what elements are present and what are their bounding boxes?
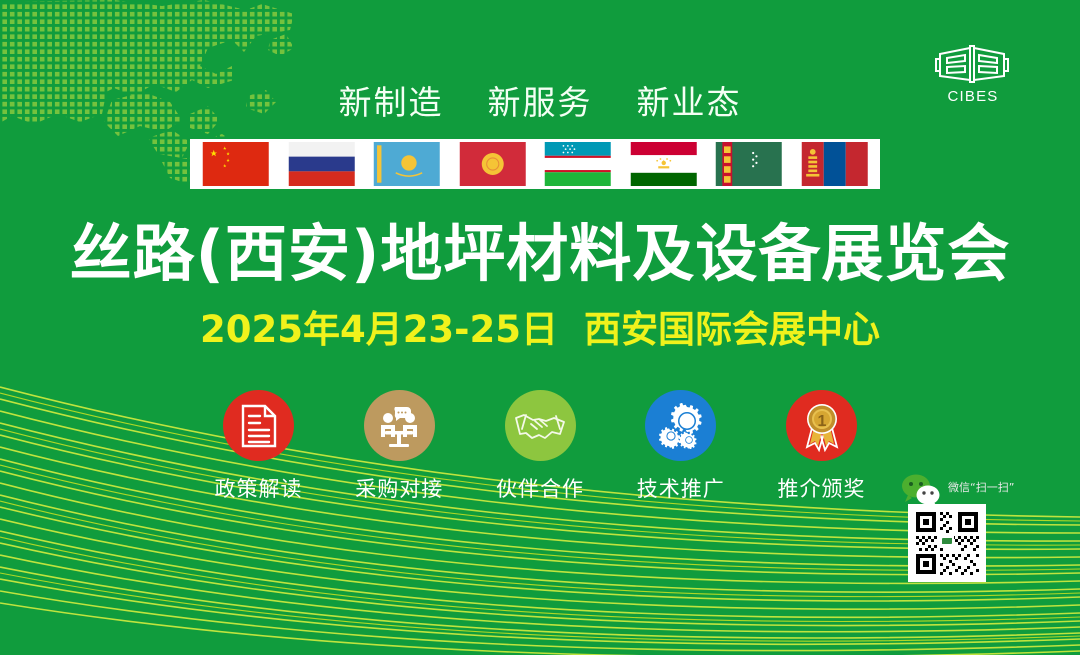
qr-code-icon[interactable] [908,504,986,582]
poster-canvas: CIBES 新制造新服务新业态 [0,0,1080,655]
page-title: 丝路(西安)地坪材料及设备展览会 [0,203,1080,293]
flag-row [190,139,880,189]
document-icon [223,390,294,461]
tagline: 新制造新服务新业态 [0,76,1080,124]
feature-label: 政策解读 [196,473,321,503]
svg-text:1: 1 [817,413,826,430]
event-venue: 西安国际会展中心 [584,308,880,351]
feature-label: 伙伴合作 [478,473,603,503]
feature-row: 政策解读 [196,390,884,510]
feature-label: 推介颁奖 [759,473,884,503]
wechat-caption: 微信“扫一扫” [948,479,1014,495]
uzbekistan-flag [535,142,621,186]
event-date: 2025年4月23-25日 [200,308,558,351]
wechat-icon [900,474,946,506]
meeting-icon [364,390,435,461]
tagline-part-3: 新业态 [637,83,742,122]
tagline-part-1: 新制造 [339,83,444,122]
event-info: 2025年4月23-25日西安国际会展中心 [0,299,1080,353]
gears-icon [645,390,716,461]
kazakhstan-flag [364,142,450,186]
kyrgyzstan-flag [450,142,536,186]
russia-flag [279,142,365,186]
tagline-part-2: 新服务 [488,83,593,122]
medal-icon: 1 [786,390,857,461]
feature-procurement[interactable]: 采购对接 [337,390,462,510]
handshake-icon [505,390,576,461]
mongolia-flag [792,142,878,186]
feature-policy[interactable]: 政策解读 [196,390,321,510]
feature-technology[interactable]: 技术推广 [618,390,743,510]
feature-label: 技术推广 [618,473,743,503]
turkmenistan-flag [706,142,792,186]
feature-label: 采购对接 [337,473,462,503]
wechat-scan-block[interactable]: 微信“扫一扫” [900,472,1050,582]
feature-award[interactable]: 1 推介颁奖 [759,390,884,510]
china-flag [193,142,279,186]
feature-partnership[interactable]: 伙伴合作 [478,390,603,510]
tajikistan-flag [621,142,707,186]
